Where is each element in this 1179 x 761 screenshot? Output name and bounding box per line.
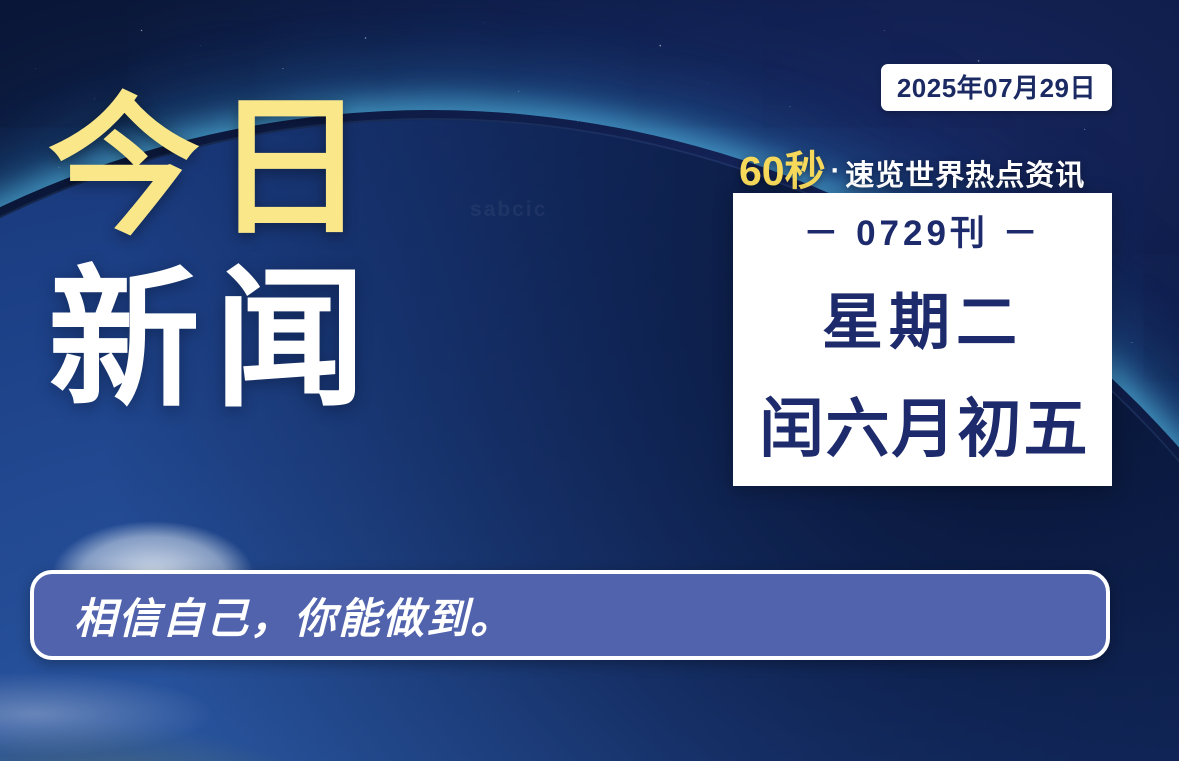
poster-title: 今日 新闻 <box>48 92 380 422</box>
weekday-label: 星期二 <box>733 272 1112 361</box>
quote-bar: 相信自己，你能做到。 <box>30 570 1110 660</box>
news-poster: sabcic 今日 新闻 2025年07月29日 60秒·速览世界热点资讯 － … <box>0 0 1179 761</box>
issue-number: － 0729刊 － <box>733 205 1112 256</box>
issue-card: － 0729刊 － 星期二 闰六月初五 <box>733 193 1112 486</box>
lunar-date: 闰六月初五 <box>727 378 1122 470</box>
tagline-seconds: 60秒 <box>739 148 826 194</box>
issue-card-inner: － 0729刊 － 星期二 闰六月初五 <box>733 193 1112 486</box>
title-line-jinri: 今日 <box>48 92 380 244</box>
watermark-text: sabcic <box>470 198 547 222</box>
tagline-separator: · <box>826 155 846 187</box>
title-line-xinwen: 新闻 <box>48 258 380 422</box>
tagline: 60秒·速览世界热点资讯 <box>739 137 1085 197</box>
quote-text: 相信自己，你能做到。 <box>34 585 514 646</box>
tagline-rest: 速览世界热点资讯 <box>845 160 1085 192</box>
date-badge: 2025年07月29日 <box>881 64 1112 111</box>
